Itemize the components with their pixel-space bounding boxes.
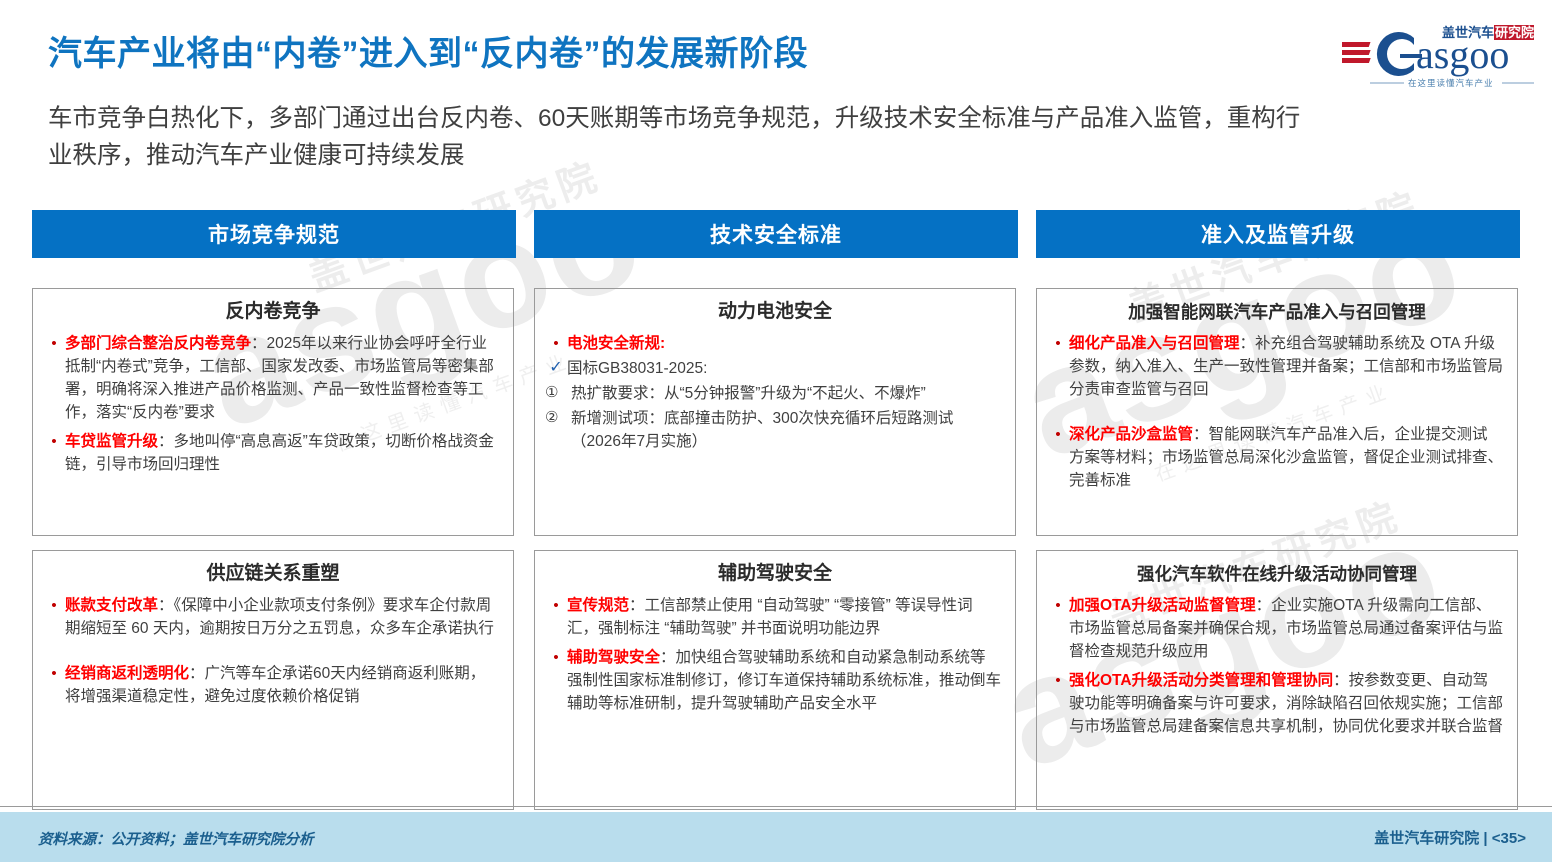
- list-item-text: 细化产品准入与召回管理：补充组合驾驶辅助系统及 OTA 升级参数，纳入准入、生产…: [1069, 332, 1503, 401]
- bullet-dot-icon: •: [545, 594, 567, 617]
- bullet-dot-icon: •: [1047, 594, 1069, 617]
- bullet-dot-icon: •: [43, 430, 65, 453]
- list-item-text: 电池安全新规:: [567, 332, 1001, 355]
- bullet-dot-icon: •: [1047, 669, 1069, 692]
- column-access-supervision: 准入及监管升级 加强智能网联汽车产品准入与召回管理 • 细化产品准入与召回管理：…: [1036, 210, 1520, 258]
- card-title: 动力电池安全: [543, 300, 1007, 324]
- logo-cn-left: 盖世汽车: [1442, 25, 1494, 40]
- circled-number-1-icon: ①: [545, 382, 571, 404]
- footer-divider: [0, 806, 1552, 807]
- column-header: 市场竞争规范: [32, 210, 516, 258]
- list-item-lead: 宣传规范: [567, 597, 629, 614]
- bullet-dot-icon: •: [545, 332, 567, 355]
- column-market-competition: 市场竞争规范 反内卷竞争 • 多部门综合整治反内卷竞争：2025年以来行业协会呼…: [32, 210, 516, 258]
- list-item: • 电池安全新规:: [545, 332, 1001, 355]
- list-item-lead: 车贷监管升级: [65, 433, 158, 450]
- bullet-dot-icon: •: [1047, 332, 1069, 355]
- bullet-dot-icon: •: [545, 646, 567, 669]
- bullet-dot-icon: •: [1047, 423, 1069, 446]
- list-item: • 多部门综合整治反内卷竞争：2025年以来行业协会呼吁全行业抵制“内卷式”竞争…: [43, 332, 499, 424]
- bullet-list: • 账款支付改革：《保障中小企业款项支付条例》要求车企付款周期缩短至 60 天内…: [33, 594, 513, 708]
- list-item-lead: 细化产品准入与召回管理: [1069, 335, 1240, 352]
- list-item: ① 热扩散要求：从“5分钟报警”升级为“不起火、不爆炸”: [545, 382, 1001, 405]
- card-ota-management: 强化汽车软件在线升级活动协同管理 • 加强OTA升级活动监督管理：企业实施OTA…: [1036, 550, 1518, 810]
- card-title: 强化汽车软件在线升级活动协同管理: [1045, 562, 1509, 586]
- list-item-text: 深化产品沙盒监管：智能网联汽车产品准入后，企业提交测试方案等材料；市场监管总局深…: [1069, 423, 1503, 492]
- card-title: 辅助驾驶安全: [543, 562, 1007, 586]
- list-item: • 加强OTA升级活动监督管理：企业实施OTA 升级需向工信部、市场监管总局备案…: [1047, 594, 1503, 663]
- check-icon: ✓: [545, 357, 567, 379]
- bullet-list: • 细化产品准入与召回管理：补充组合驾驶辅助系统及 OTA 升级参数，纳入准入、…: [1037, 332, 1517, 492]
- bullet-dot-icon: •: [43, 594, 65, 617]
- bullet-dot-icon: •: [43, 662, 65, 685]
- list-item-lead: 强化OTA升级活动分类管理和管理协同: [1069, 672, 1333, 689]
- logo-tagline: 在这里读懂汽车产业: [1408, 78, 1494, 88]
- list-item-text: 经销商返利透明化：广汽等车企承诺60天内经销商返利账期，将增强渠道稳定性，避免过…: [65, 662, 499, 708]
- list-item: • 宣传规范：工信部禁止使用 “自动驾驶” “零接管” 等误导性词汇，强制标注 …: [545, 594, 1001, 640]
- card-supply-chain: 供应链关系重塑 • 账款支付改革：《保障中小企业款项支付条例》要求车企付款周期缩…: [32, 550, 514, 810]
- list-item-text: 账款支付改革：《保障中小企业款项支付条例》要求车企付款周期缩短至 60 天内，逾…: [65, 594, 499, 640]
- bullet-list: • 电池安全新规: ✓ 国标GB38031-2025: ① 热扩散要求：从“5分…: [535, 332, 1015, 453]
- column-header: 准入及监管升级: [1036, 210, 1520, 258]
- bullet-list: • 多部门综合整治反内卷竞争：2025年以来行业协会呼吁全行业抵制“内卷式”竞争…: [33, 332, 513, 476]
- list-item: • 经销商返利透明化：广汽等车企承诺60天内经销商返利账期，将增强渠道稳定性，避…: [43, 662, 499, 708]
- bullet-list: • 宣传规范：工信部禁止使用 “自动驾驶” “零接管” 等误导性词汇，强制标注 …: [535, 594, 1015, 715]
- page-number: <35>: [1492, 830, 1526, 847]
- footer-brand: 盖世汽车研究院: [1374, 830, 1479, 847]
- card-battery-safety: 动力电池安全 • 电池安全新规: ✓ 国标GB38031-2025: ① 热扩散…: [534, 288, 1016, 536]
- page-title: 汽车产业将由“内卷”进入到“反内卷”的发展新阶段: [48, 26, 808, 75]
- list-item-lead: 深化产品沙盒监管: [1069, 426, 1193, 443]
- list-item-lead: 账款支付改革: [65, 597, 158, 614]
- list-item-body: 新增测试项：底部撞击防护、300次快充循环后短路测试（2026年7月实施）: [571, 407, 1001, 453]
- list-item-body: 国标GB38031-2025:: [567, 357, 1001, 380]
- card-title: 加强智能网联汽车产品准入与召回管理: [1045, 300, 1509, 324]
- list-item-text: 辅助驾驶安全：加快组合驾驶辅助系统和自动紧急制动系统等强制性国家标准制修订，修订…: [567, 646, 1001, 715]
- bullet-list: • 加强OTA升级活动监督管理：企业实施OTA 升级需向工信部、市场监管总局备案…: [1037, 594, 1517, 738]
- list-item-text: 宣传规范：工信部禁止使用 “自动驾驶” “零接管” 等误导性词汇，强制标注 “辅…: [567, 594, 1001, 640]
- column-header: 技术安全标准: [534, 210, 1018, 258]
- card-adas-safety: 辅助驾驶安全 • 宣传规范：工信部禁止使用 “自动驾驶” “零接管” 等误导性词…: [534, 550, 1016, 810]
- list-item: • 账款支付改革：《保障中小企业款项支付条例》要求车企付款周期缩短至 60 天内…: [43, 594, 499, 640]
- list-item: ✓ 国标GB38031-2025:: [545, 357, 1001, 380]
- source-note: 资料来源：公开资料；盖世汽车研究院分析: [38, 828, 314, 849]
- footer-bar: 资料来源：公开资料；盖世汽车研究院分析 盖世汽车研究院 | <35>: [0, 812, 1552, 862]
- list-item-lead: 多部门综合整治反内卷竞争: [65, 335, 251, 352]
- footer-pager: 盖世汽车研究院 | <35>: [1374, 827, 1526, 848]
- list-item: • 车贷监管升级：多地叫停“高息高返”车贷政策，切断价格战资金链，引导市场回归理…: [43, 430, 499, 476]
- footer-separator: |: [1483, 830, 1487, 847]
- list-item-lead: 电池安全新规:: [567, 335, 665, 352]
- list-item: • 强化OTA升级活动分类管理和管理协同：按参数变更、自动驾驶功能等明确备案与许…: [1047, 669, 1503, 738]
- card-icv-access-recall: 加强智能网联汽车产品准入与召回管理 • 细化产品准入与召回管理：补充组合驾驶辅助…: [1036, 288, 1518, 536]
- list-item-lead: 辅助驾驶安全: [567, 649, 660, 666]
- logo-cn-right: 研究院: [1495, 25, 1534, 40]
- list-item-text: 强化OTA升级活动分类管理和管理协同：按参数变更、自动驾驶功能等明确备案与许可要…: [1069, 669, 1503, 738]
- list-item: ② 新增测试项：底部撞击防护、300次快充循环后短路测试（2026年7月实施）: [545, 407, 1001, 453]
- card-title: 供应链关系重塑: [41, 562, 505, 586]
- gasgoo-logo: asgoo 盖世汽车 研究院 在这里读懂汽车产业: [1342, 16, 1538, 90]
- list-item-lead: 经销商返利透明化: [65, 665, 189, 682]
- list-item-text: 加强OTA升级活动监督管理：企业实施OTA 升级需向工信部、市场监管总局备案并确…: [1069, 594, 1503, 663]
- list-item: • 深化产品沙盒监管：智能网联汽车产品准入后，企业提交测试方案等材料；市场监管总…: [1047, 423, 1503, 492]
- circled-number-2-icon: ②: [545, 407, 571, 429]
- logo-bars: [1342, 42, 1371, 63]
- list-item-body: 热扩散要求：从“5分钟报警”升级为“不起火、不爆炸”: [571, 382, 1001, 405]
- column-technical-safety: 技术安全标准 动力电池安全 • 电池安全新规: ✓ 国标GB38031-2025…: [534, 210, 1018, 258]
- page-subtitle: 车市竞争白热化下，多部门通过出台反内卷、60天账期等市场竞争规范，升级技术安全标…: [48, 100, 1318, 174]
- list-item-text: 车贷监管升级：多地叫停“高息高返”车贷政策，切断价格战资金链，引导市场回归理性: [65, 430, 499, 476]
- card-title: 反内卷竞争: [41, 300, 505, 324]
- list-item: • 辅助驾驶安全：加快组合驾驶辅助系统和自动紧急制动系统等强制性国家标准制修订，…: [545, 646, 1001, 715]
- bullet-dot-icon: •: [43, 332, 65, 355]
- list-item-lead: 加强OTA升级活动监督管理: [1069, 597, 1256, 614]
- content-board: 市场竞争规范 反内卷竞争 • 多部门综合整治反内卷竞争：2025年以来行业协会呼…: [0, 210, 1552, 810]
- card-anti-involution: 反内卷竞争 • 多部门综合整治反内卷竞争：2025年以来行业协会呼吁全行业抵制“…: [32, 288, 514, 536]
- list-item: • 细化产品准入与召回管理：补充组合驾驶辅助系统及 OTA 升级参数，纳入准入、…: [1047, 332, 1503, 401]
- list-item-text: 多部门综合整治反内卷竞争：2025年以来行业协会呼吁全行业抵制“内卷式”竞争，工…: [65, 332, 499, 424]
